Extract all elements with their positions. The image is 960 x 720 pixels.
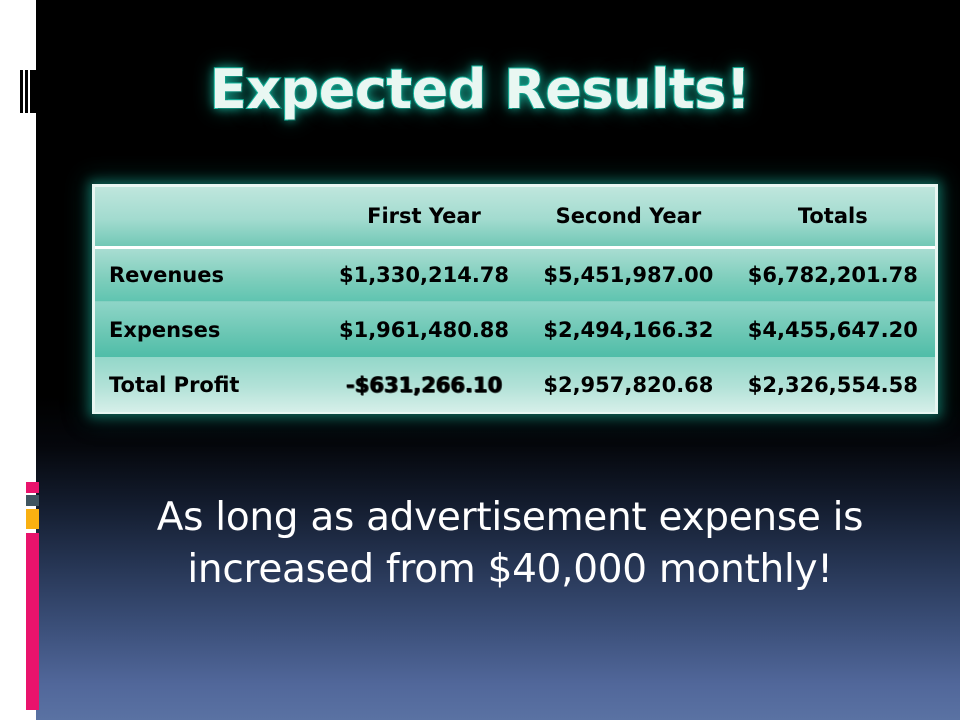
- column-header-totals: Totals: [731, 187, 935, 247]
- table-row: Expenses $1,961,480.88 $2,494,166.32 $4,…: [95, 302, 935, 357]
- slate-square-icon: [26, 495, 39, 506]
- cell-revenues-second-year: $5,451,987.00: [526, 247, 730, 302]
- results-table: First Year Second Year Totals Revenues $…: [95, 187, 935, 412]
- caption-line-2-pre: increased from: [187, 547, 487, 592]
- cell-total-profit-totals: $2,326,554.58: [731, 357, 935, 412]
- caption-line-2: increased from $40,000 monthly!: [110, 544, 910, 596]
- caption-line-1: As long as advertisement expense is: [110, 492, 910, 544]
- column-header-second-year: Second Year: [526, 187, 730, 247]
- column-header-blank: [95, 187, 322, 247]
- cell-total-profit-first-year: -$631,266.10: [322, 357, 526, 412]
- slide-caption: As long as advertisement expense is incr…: [110, 492, 910, 596]
- slide-title: Expected Results!: [0, 58, 960, 121]
- orange-square-icon: [26, 509, 39, 529]
- slide-canvas: Expected Results! First Year Second Year…: [0, 0, 960, 720]
- magenta-square-icon: [26, 482, 39, 493]
- row-label-expenses: Expenses: [95, 302, 322, 357]
- table-row: Revenues $1,330,214.78 $5,451,987.00 $6,…: [95, 247, 935, 302]
- table-row: Total Profit -$631,266.10 $2,957,820.68 …: [95, 357, 935, 412]
- cell-expenses-first-year: $1,961,480.88: [322, 302, 526, 357]
- cell-revenues-first-year: $1,330,214.78: [322, 247, 526, 302]
- table-header-row: First Year Second Year Totals: [95, 187, 935, 247]
- row-label-total-profit: Total Profit: [95, 357, 322, 412]
- cell-expenses-totals: $4,455,647.20: [731, 302, 935, 357]
- cell-total-profit-second-year: $2,957,820.68: [526, 357, 730, 412]
- results-table-frame: First Year Second Year Totals Revenues $…: [92, 184, 938, 414]
- caption-line-2-post: monthly!: [647, 547, 833, 592]
- row-label-revenues: Revenues: [95, 247, 322, 302]
- column-header-first-year: First Year: [322, 187, 526, 247]
- cell-revenues-totals: $6,782,201.78: [731, 247, 935, 302]
- magenta-bar-icon: [26, 533, 39, 710]
- caption-amount: $40,000: [488, 547, 647, 592]
- cell-expenses-second-year: $2,494,166.32: [526, 302, 730, 357]
